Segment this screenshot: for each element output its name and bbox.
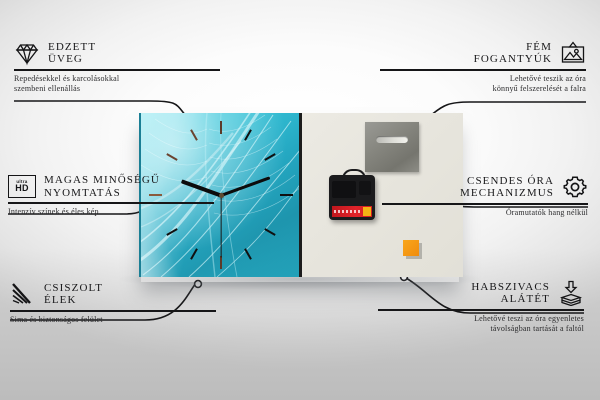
feature-rule	[14, 69, 220, 71]
feature-desc-line1: Óramutatók hang nélkül	[506, 208, 588, 217]
polished-edge-icon	[10, 281, 36, 307]
mechanism-hook	[342, 169, 366, 181]
feature-description: Sima és biztonságos felület	[10, 315, 216, 325]
feature-desc-line2: könnyű felszerelését a falra	[493, 84, 586, 93]
feature-title-line2: ÜVEG	[48, 53, 83, 65]
feature-title-line2: NYOMTATÁS	[44, 187, 121, 199]
clock-pivot	[219, 193, 224, 198]
feature-description: Óramutatók hang nélkül	[382, 208, 588, 218]
feature-rule	[8, 202, 214, 204]
mechanism-battery-bay	[359, 181, 371, 195]
foam-stack-arrow-icon	[558, 280, 584, 306]
diamond-icon	[14, 40, 40, 66]
feature-title-line1: CSISZOLT	[44, 282, 103, 294]
mechanism-body	[332, 181, 356, 198]
feature-rule	[380, 69, 586, 71]
feature-title-line1: FÉM	[526, 41, 552, 53]
mechanism-label	[332, 206, 372, 217]
feature-header: EDZETT ÜVEG	[14, 40, 220, 66]
feature-title-line2: FOGANTYÚK	[474, 53, 552, 65]
feature-description: Lehetővé teszi az óra egyenletes távolsá…	[378, 314, 584, 334]
feature-header: ultra HD MAGAS MINŐSÉGŰ NYOMTATÁS	[8, 174, 214, 199]
feature-desc-line2: távolságban tartását a faltól	[490, 324, 584, 333]
feature-desc-line1: Lehetővé teszik az óra	[510, 74, 586, 83]
gear-icon	[562, 174, 588, 200]
feature-header: FÉM FOGANTYÚK	[380, 40, 586, 66]
feature-title: EDZETT ÜVEG	[48, 41, 96, 66]
feature-title: CSISZOLT ÉLEK	[44, 282, 103, 307]
feature-foam-spacer[interactable]: HABSZIVACS ALÁTÉT Lehetővé teszi az óra …	[378, 280, 584, 334]
feature-description: Intenzív színek és éles kép	[8, 207, 214, 217]
label-badge	[363, 207, 371, 216]
feature-rule	[10, 310, 216, 312]
label-text-lines	[334, 210, 362, 213]
tick-mark	[280, 194, 293, 196]
clock-mechanism	[329, 175, 375, 220]
feature-header: CSENDES ÓRA MECHANIZMUS	[382, 174, 588, 200]
feature-header: HABSZIVACS ALÁTÉT	[378, 280, 584, 306]
foam-spacer-pad	[403, 240, 419, 256]
feature-title-line1: EDZETT	[48, 41, 96, 53]
second-hand	[220, 196, 221, 258]
feature-description: Lehetővé teszik az óra könnyű felszerelé…	[380, 74, 586, 94]
feature-rule	[382, 203, 588, 205]
feature-title: CSENDES ÓRA MECHANIZMUS	[460, 175, 554, 200]
feature-title-line2: ÉLEK	[44, 294, 77, 306]
feature-title-line1: MAGAS MINŐSÉGŰ	[44, 174, 160, 186]
feature-title-line2: MECHANIZMUS	[460, 187, 554, 199]
feature-desc-line1: Lehetővé teszi az óra egyenletes	[474, 314, 584, 323]
tick-mark	[220, 121, 222, 134]
feature-high-quality-print[interactable]: ultra HD MAGAS MINŐSÉGŰ NYOMTATÁS Intenz…	[8, 174, 214, 217]
feature-title: HABSZIVACS ALÁTÉT	[471, 281, 550, 306]
feature-title: FÉM FOGANTYÚK	[474, 41, 552, 66]
feature-desc-line1: Intenzív színek és éles kép	[8, 207, 99, 216]
feature-silent-mechanism[interactable]: CSENDES ÓRA MECHANIZMUS Óramutatók hang …	[382, 174, 588, 218]
feature-header: CSISZOLT ÉLEK	[10, 281, 216, 307]
feature-title-line1: CSENDES ÓRA	[467, 175, 554, 187]
feature-tempered-glass[interactable]: EDZETT ÜVEG Repedésekkel és karcolásokka…	[14, 40, 220, 94]
feature-title-line1: HABSZIVACS	[471, 281, 550, 293]
feature-polished-edges[interactable]: CSISZOLT ÉLEK Sima és biztonságos felüle…	[10, 281, 216, 325]
feature-desc-line1: Repedésekkel és karcolásokkal	[14, 74, 119, 83]
feature-description: Repedésekkel és karcolásokkal szembeni e…	[14, 74, 220, 94]
product-infographic: EDZETT ÜVEG Repedésekkel és karcolásokka…	[0, 0, 600, 400]
feature-desc-line1: Sima és biztonságos felület	[10, 315, 103, 324]
feature-rule	[378, 309, 584, 311]
feature-title: MAGAS MINŐSÉGŰ NYOMTATÁS	[44, 174, 160, 199]
feature-desc-line2: szembeni ellenállás	[14, 84, 80, 93]
tick-mark	[220, 256, 222, 269]
feature-title-line2: ALÁTÉT	[501, 293, 550, 305]
ultra-hd-main-text: HD	[15, 184, 28, 193]
feature-metal-hangers[interactable]: FÉM FOGANTYÚK Lehetővé teszik az óra kön…	[380, 40, 586, 94]
ultra-hd-icon: ultra HD	[8, 175, 36, 198]
picture-frame-icon	[560, 40, 586, 66]
metal-hanger-plate	[365, 122, 419, 172]
hanger-slot	[376, 136, 408, 143]
